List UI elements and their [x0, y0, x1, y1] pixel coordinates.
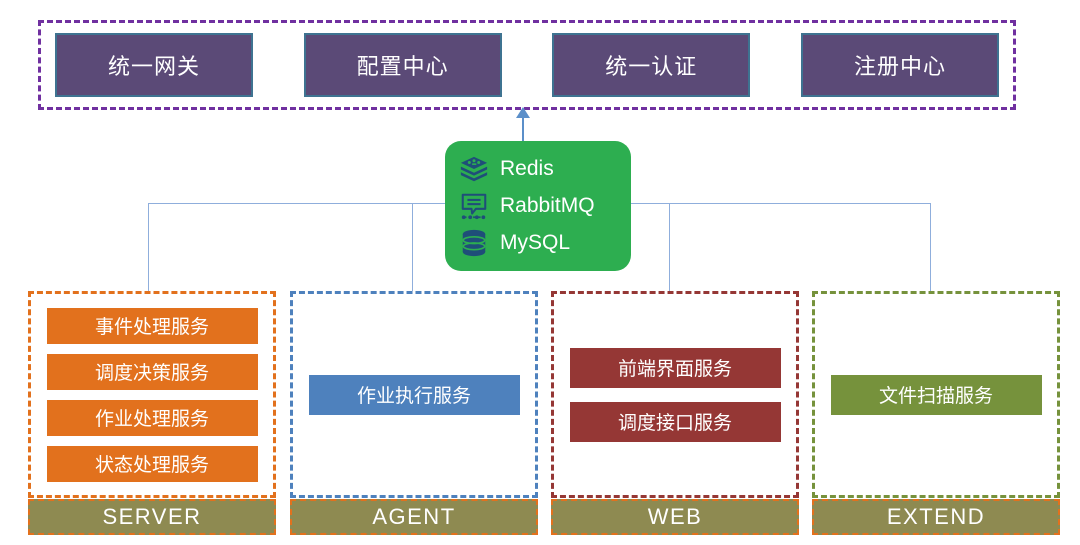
service-label: 文件扫描服务	[879, 381, 993, 408]
service-label: 事件处理服务	[95, 312, 209, 339]
middleware-item-mysql[interactable]: MySQL	[459, 225, 631, 261]
footer-label-text: EXTEND	[887, 504, 985, 530]
footer-label-web: WEB	[551, 499, 799, 535]
service-box-job-execution[interactable]: 作业执行服务	[309, 375, 520, 415]
platform-box-registry-label: 注册中心	[854, 49, 946, 81]
platform-box-auth-label: 统一认证	[605, 49, 697, 81]
arrow-shaft-middleware-to-platform	[522, 113, 524, 143]
footer-label-agent: AGENT	[290, 499, 538, 535]
footer-label-text: AGENT	[372, 504, 455, 530]
platform-box-auth[interactable]: 统一认证	[552, 33, 750, 97]
connector-bus-right	[631, 203, 931, 204]
connector-drop-web	[669, 203, 670, 293]
platform-box-gateway[interactable]: 统一网关	[55, 33, 253, 97]
footer-label-text: WEB	[648, 504, 703, 530]
service-box-frontend-ui[interactable]: 前端界面服务	[570, 348, 781, 388]
service-label: 状态处理服务	[95, 450, 209, 477]
middleware-box: Redis RabbitMQ	[445, 141, 631, 271]
service-label: 调度决策服务	[95, 358, 209, 385]
middleware-item-redis[interactable]: Redis	[459, 151, 631, 187]
service-label: 前端界面服务	[618, 354, 732, 381]
middleware-item-rabbitmq[interactable]: RabbitMQ	[459, 188, 631, 224]
platform-box-config-center[interactable]: 配置中心	[304, 33, 502, 97]
service-box-state-processing[interactable]: 状态处理服务	[47, 446, 258, 482]
service-box-scheduling-api[interactable]: 调度接口服务	[570, 402, 781, 442]
platform-box-gateway-label: 统一网关	[108, 49, 200, 81]
footer-label-extend: EXTEND	[812, 499, 1060, 535]
service-box-scheduling-decision[interactable]: 调度决策服务	[47, 354, 258, 390]
rabbitmq-message-icon	[459, 191, 489, 221]
footer-label-text: SERVER	[102, 504, 201, 530]
column-extend: 文件扫描服务	[812, 291, 1060, 498]
column-web: 前端界面服务 调度接口服务	[551, 291, 799, 498]
middleware-item-redis-label: Redis	[500, 157, 554, 181]
platform-box-registry[interactable]: 注册中心	[801, 33, 999, 97]
service-label: 作业执行服务	[357, 381, 471, 408]
service-label: 作业处理服务	[95, 404, 209, 431]
service-box-file-scan[interactable]: 文件扫描服务	[831, 375, 1042, 415]
column-server: 事件处理服务 调度决策服务 作业处理服务 状态处理服务	[28, 291, 276, 498]
connector-bus-left	[148, 203, 445, 204]
redis-stack-icon	[459, 154, 489, 184]
column-agent: 作业执行服务	[290, 291, 538, 498]
footer-label-server: SERVER	[28, 499, 276, 535]
mysql-database-icon	[459, 228, 489, 258]
service-box-event-processing[interactable]: 事件处理服务	[47, 308, 258, 344]
architecture-diagram: 统一网关 配置中心 统一认证 注册中心	[0, 0, 1080, 545]
connector-drop-extend	[930, 203, 931, 293]
middleware-item-mysql-label: MySQL	[500, 231, 570, 255]
platform-box-config-center-label: 配置中心	[357, 49, 449, 81]
platform-layer-container: 统一网关 配置中心 统一认证 注册中心	[38, 20, 1016, 110]
connector-drop-server	[148, 203, 149, 293]
connector-drop-agent	[412, 203, 413, 293]
service-box-job-processing[interactable]: 作业处理服务	[47, 400, 258, 436]
service-label: 调度接口服务	[618, 408, 732, 435]
middleware-item-rabbitmq-label: RabbitMQ	[500, 194, 595, 218]
